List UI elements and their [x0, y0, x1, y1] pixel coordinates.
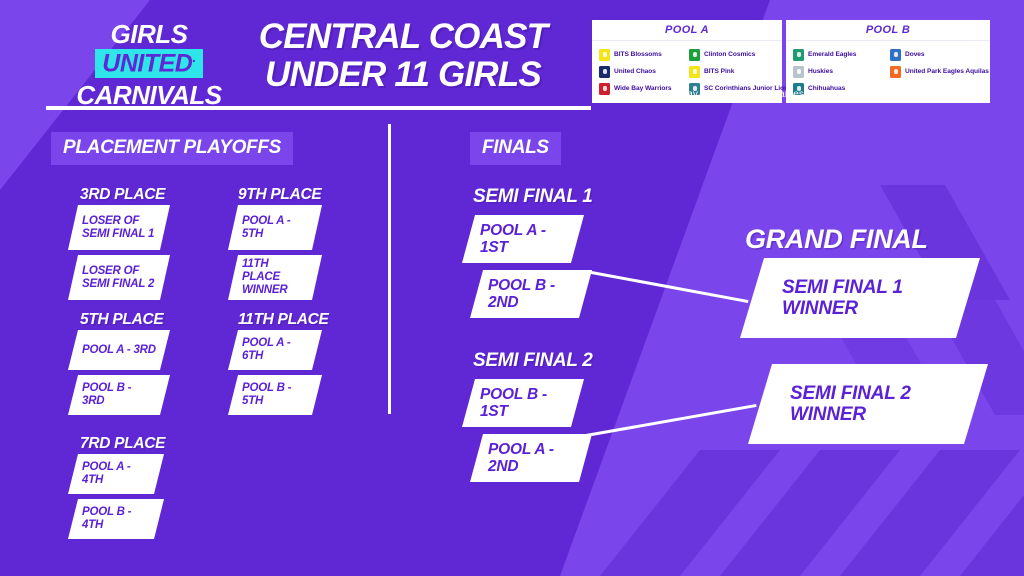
team-crest-icon — [599, 49, 610, 61]
slot-text-line: 11TH PLACE — [242, 258, 308, 284]
team-name: Clinton Cosmics — [704, 51, 755, 58]
team-crest-icon — [890, 66, 901, 78]
playoff-slot[interactable]: LOSER OFSEMI FINAL 1 — [68, 205, 170, 250]
slot-text-line: POOL A - 6TH — [242, 337, 308, 363]
team-name: Doves — [905, 51, 925, 58]
team-entry: BITS Blossoms — [597, 46, 687, 63]
team-crest-icon — [890, 49, 901, 61]
slot-text: POOL B - 5TH — [242, 382, 308, 408]
page-title-line-1: CENTRAL COAST — [228, 18, 578, 56]
playoff-group-title: 5TH PLACE — [80, 311, 163, 329]
team-entry: BITS Pink — [687, 63, 777, 80]
playoff-slot[interactable]: POOL A - 5TH — [228, 205, 322, 250]
vertical-divider — [388, 124, 391, 414]
slot-text: POOL A - 6TH — [242, 337, 308, 363]
slot-text-line: POOL B - 5TH — [242, 382, 308, 408]
playoff-slot[interactable]: POOL A - 4TH — [68, 454, 164, 494]
semi-final-slot[interactable]: POOL B - 2ND — [470, 270, 592, 318]
team-crest-icon — [689, 49, 700, 61]
slot-text: LOSER OFSEMI FINAL 1 — [82, 215, 154, 241]
slot-text: POOL B - 2ND — [488, 277, 574, 312]
slot-text: POOL A - 4TH — [82, 461, 150, 487]
slot-text: POOL A - 2ND — [488, 441, 574, 476]
slot-text: 11TH PLACEWINNER — [242, 258, 308, 297]
logo-dot: . — [192, 49, 195, 65]
slot-text-line: LOSER OF — [82, 215, 154, 228]
slot-text: POOL A - 5TH — [242, 215, 308, 241]
connector-semi-final-2 — [586, 404, 757, 437]
semi-final-slot[interactable]: POOL A - 1ST — [462, 215, 584, 263]
team-name: BITS Blossoms — [614, 51, 662, 58]
header-divider-rule — [46, 106, 591, 110]
semi-final-title: SEMI FINAL 1 — [473, 186, 593, 208]
team-crest-icon — [793, 66, 804, 78]
playoff-group-title: 7RD PLACE — [80, 435, 165, 453]
team-crest-icon — [793, 49, 804, 61]
slot-text-line: WINNER — [242, 284, 308, 297]
slot-text-line: POOL A - 3RD — [82, 344, 156, 357]
playoff-slot[interactable]: 11TH PLACEWINNER — [228, 255, 322, 300]
playoff-slot[interactable]: POOL A - 6TH — [228, 330, 322, 370]
team-name: Emerald Eagles — [808, 51, 856, 58]
team-crest-icon — [599, 66, 610, 78]
team-entry: Emerald Eagles — [791, 46, 888, 63]
slot-text: SEMI FINAL 1WINNER — [782, 277, 903, 320]
team-entry: Doves — [888, 46, 985, 63]
slot-text: POOL B - 3RD — [82, 382, 156, 408]
slot-text-line: POOL B - 1ST — [480, 386, 566, 421]
team-crest-icon — [689, 66, 700, 78]
slot-text-line: POOL A - 2ND — [488, 441, 574, 476]
logo: GIRLS UNITED. CARNIVALS — [54, 21, 244, 108]
semi-final-slot[interactable]: POOL A - 2ND — [470, 434, 592, 482]
playoff-group-title: 3RD PLACE — [80, 186, 165, 204]
slot-text-line: POOL B - 2ND — [488, 277, 574, 312]
semi-final-title: SEMI FINAL 2 — [473, 350, 593, 372]
header: GIRLS UNITED. CARNIVALS CENTRAL COAST UN… — [0, 0, 1024, 112]
team-name: United Chaos — [614, 68, 656, 75]
slot-text-line: SEMI FINAL 1 — [82, 228, 154, 241]
connector-semi-final-1 — [586, 270, 749, 303]
slot-text: LOSER OFSEMI FINAL 2 — [82, 265, 154, 291]
playoff-slot[interactable]: POOL B - 5TH — [228, 375, 322, 415]
slot-text: POOL B - 1ST — [480, 386, 566, 421]
team-entry: Clinton Cosmics — [687, 46, 777, 63]
team-name: United Park Eagles Aquilas — [905, 68, 989, 75]
slot-text-line: LOSER OF — [82, 265, 154, 278]
playoff-slot[interactable]: POOL B - 3RD — [68, 375, 170, 415]
slot-text-line: SEMI FINAL 2 — [82, 278, 154, 291]
playoff-slot[interactable]: POOL A - 3RD — [68, 330, 170, 370]
slot-text-line: POOL A - 4TH — [82, 461, 150, 487]
grand-final-slot[interactable]: SEMI FINAL 1WINNER — [740, 258, 980, 338]
slot-text-line: SEMI FINAL 1 — [782, 277, 903, 298]
pool-b-title: POOL B — [786, 20, 990, 40]
slot-text: POOL A - 1ST — [480, 222, 566, 257]
slot-text: POOL A - 3RD — [82, 344, 156, 357]
page-title-line-2: UNDER 11 GIRLS — [228, 56, 578, 94]
grand-final-title: GRAND FINAL — [745, 224, 928, 255]
games-note: Teams play a minimum of 5 games and a ma… — [592, 89, 990, 100]
slot-text-line: POOL A - 1ST — [480, 222, 566, 257]
team-entry: United Park Eagles Aquilas — [888, 63, 985, 80]
slot-text-line: POOL A - 5TH — [242, 215, 308, 241]
slot-text-line: WINNER — [782, 298, 903, 319]
logo-line-girls: GIRLS — [54, 21, 244, 47]
pool-a-title: POOL A — [592, 20, 782, 40]
team-entry: Huskies — [791, 63, 888, 80]
section-heading-placement-playoffs: PLACEMENT PLAYOFFS — [51, 132, 293, 165]
slot-text-line: WINNER — [790, 404, 911, 425]
slot-text-line: POOL B - 4TH — [82, 506, 150, 532]
team-name: BITS Pink — [704, 68, 734, 75]
slot-text-line: SEMI FINAL 2 — [790, 383, 911, 404]
page-title: CENTRAL COAST UNDER 11 GIRLS — [228, 18, 578, 94]
playoff-slot[interactable]: POOL B - 4TH — [68, 499, 164, 539]
playoff-slot[interactable]: LOSER OFSEMI FINAL 2 — [68, 255, 170, 300]
grand-final-slot[interactable]: SEMI FINAL 2WINNER — [748, 364, 988, 444]
slot-text: POOL B - 4TH — [82, 506, 150, 532]
slot-text-line: POOL B - 3RD — [82, 382, 156, 408]
bracket-poster: GIRLS UNITED. CARNIVALS CENTRAL COAST UN… — [0, 0, 1024, 576]
slot-text: SEMI FINAL 2WINNER — [790, 383, 911, 426]
stripe-pattern-bottom-right — [600, 450, 1024, 576]
logo-line-united: UNITED. — [95, 49, 202, 78]
team-entry: United Chaos — [597, 63, 687, 80]
section-heading-finals: FINALS — [470, 132, 561, 165]
playoff-group-title: 11TH PLACE — [238, 311, 329, 329]
logo-line-carnivals: CARNIVALS — [54, 82, 244, 108]
semi-final-slot[interactable]: POOL B - 1ST — [462, 379, 584, 427]
playoff-group-title: 9TH PLACE — [238, 186, 321, 204]
team-name: Huskies — [808, 68, 833, 75]
